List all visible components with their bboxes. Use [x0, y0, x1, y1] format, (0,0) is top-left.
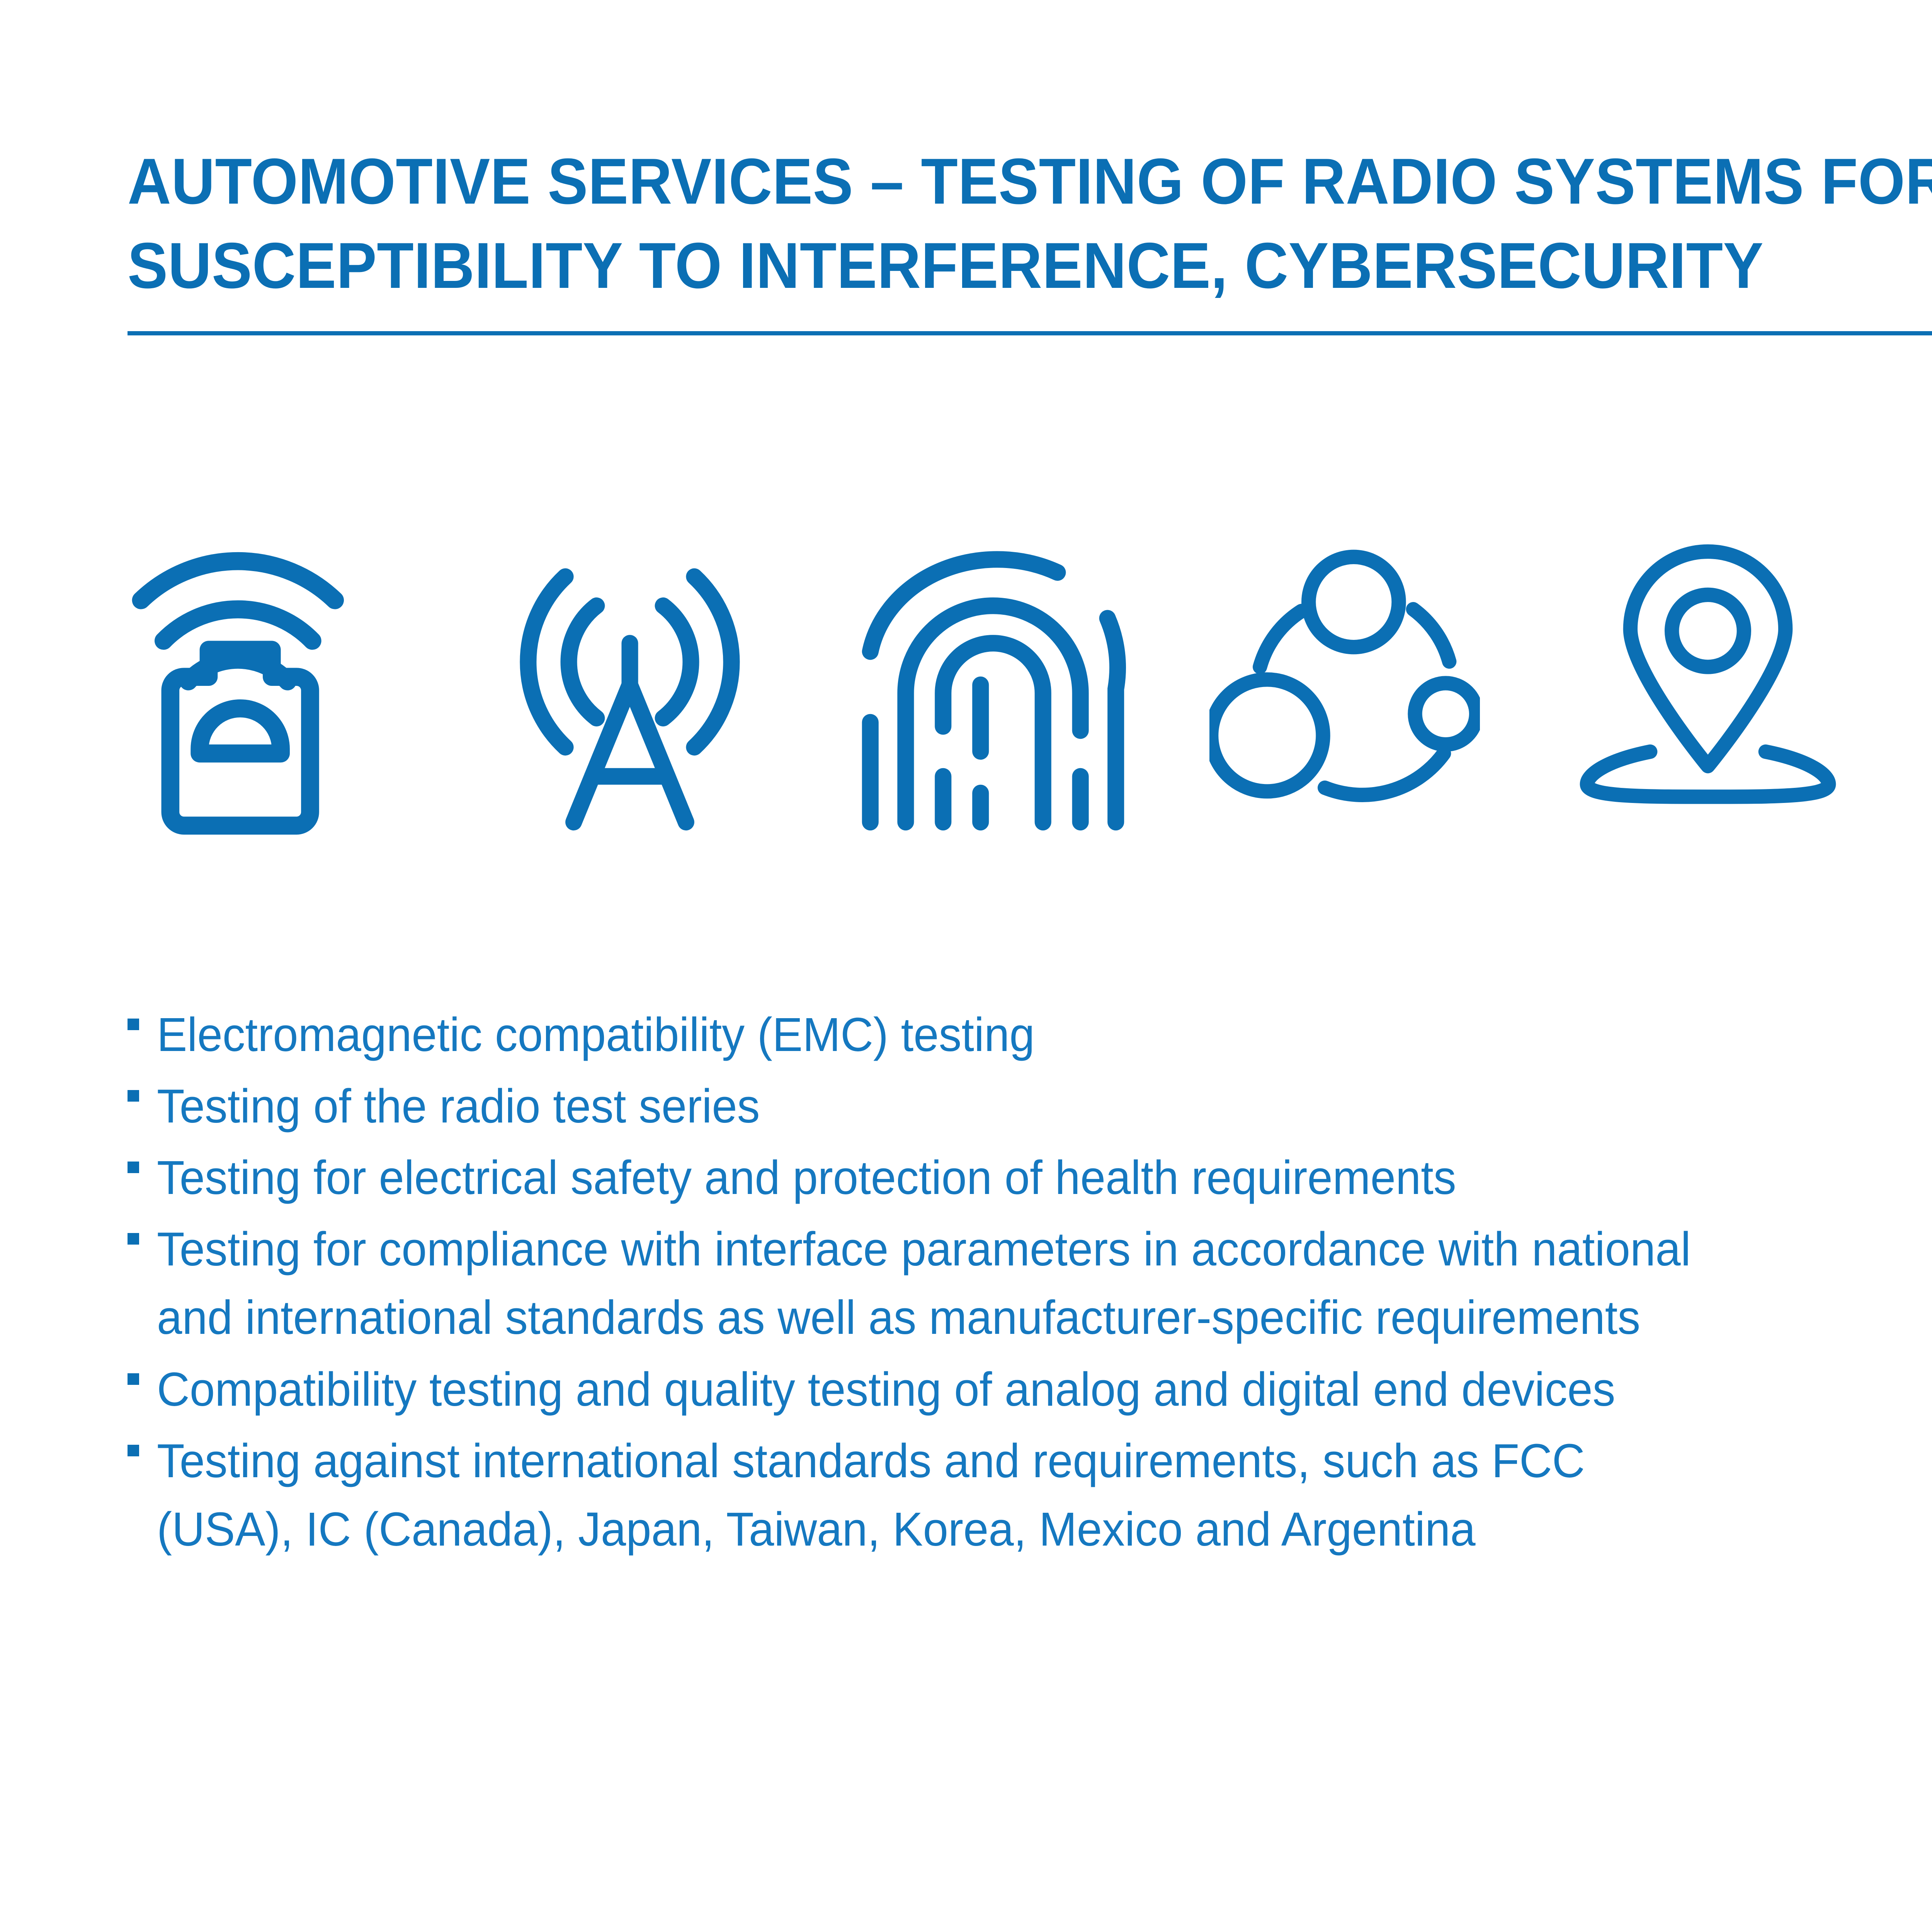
- page-title: AUTOMOTIVE SERVICES – TESTING OF RADIO S…: [128, 139, 1932, 308]
- bullet-square-icon: [128, 1373, 139, 1385]
- list-item: Testing of the radio test series: [128, 1072, 1932, 1141]
- list-item: Compatibility testing and quality testin…: [128, 1355, 1932, 1424]
- location-pin-icon: [1573, 510, 1843, 835]
- bullet-square-icon: [128, 1233, 139, 1245]
- fingerprint-icon: [858, 510, 1128, 835]
- slide-header: AUTOMOTIVE SERVICES – TESTING OF RADIO S…: [128, 139, 1932, 340]
- bullet-square-icon: [128, 1445, 139, 1456]
- page-title-line-2: SUSCEPTIBILITY TO INTERFERENCE, CYBERSEC…: [128, 223, 1932, 308]
- list-item-label: Testing for compliance with interface pa…: [157, 1215, 1691, 1352]
- page-title-line-1: AUTOMOTIVE SERVICES – TESTING OF RADIO S…: [128, 139, 1932, 223]
- list-item: Testing for electrical safety and protec…: [128, 1144, 1932, 1212]
- list-item-label: Testing for electrical safety and protec…: [157, 1144, 1456, 1212]
- radio-tower-icon: [495, 510, 765, 835]
- list-item-label: Testing of the radio test series: [157, 1072, 760, 1141]
- header-divider: [128, 331, 1932, 335]
- bullet-square-icon: [128, 1019, 139, 1030]
- bullet-square-icon: [128, 1162, 139, 1173]
- bullet-square-icon: [128, 1090, 139, 1102]
- list-item-label: Electromagnetic compatibility (EMC) test…: [157, 1001, 1035, 1069]
- slide-canvas: AUTOMOTIVE SERVICES – TESTING OF RADIO S…: [0, 0, 1932, 1932]
- service-icon-row: [128, 510, 1932, 835]
- list-item-label: Testing against international standards …: [157, 1427, 1585, 1564]
- network-nodes-icon: [1209, 510, 1480, 835]
- wireless-key-fob-icon: [128, 510, 398, 835]
- service-bullet-list: Electromagnetic compatibility (EMC) test…: [128, 1001, 1932, 1567]
- list-item: Electromagnetic compatibility (EMC) test…: [128, 1001, 1932, 1069]
- list-item: Testing against international standards …: [128, 1427, 1932, 1564]
- list-item-label: Compatibility testing and quality testin…: [157, 1355, 1615, 1424]
- list-item: Testing for compliance with interface pa…: [128, 1215, 1932, 1352]
